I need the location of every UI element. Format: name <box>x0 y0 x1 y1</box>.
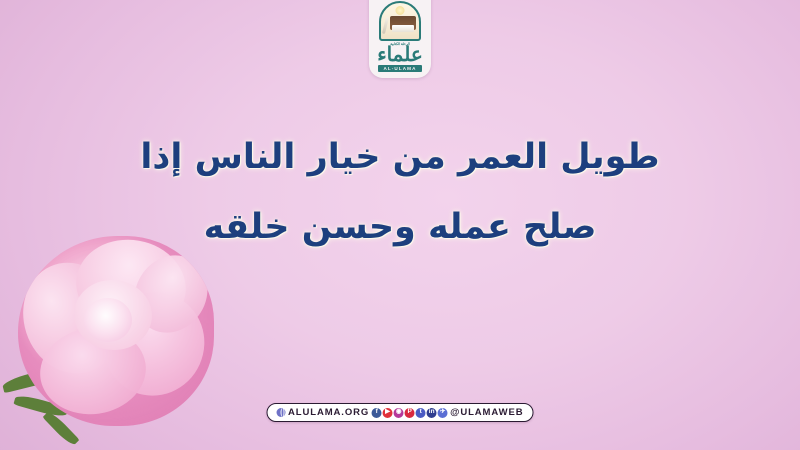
quote-line-2: صلح عمله وحسن خلقه <box>0 192 800 262</box>
flower-sepal <box>42 410 79 448</box>
globe-icon <box>277 408 286 417</box>
twitter-icon[interactable]: t <box>416 408 426 418</box>
arch-icon <box>379 1 421 41</box>
pinterest-icon[interactable]: P <box>405 408 415 418</box>
social-handle-label[interactable]: @ULAMAWEB <box>450 407 523 418</box>
logo-arabic-wordmark: علماء <box>377 46 423 64</box>
facebook-icon[interactable]: f <box>372 408 382 418</box>
youtube-icon[interactable]: ▶ <box>383 408 393 418</box>
al-ulama-logo[interactable]: الرحلة الكتابية علماء AL-ULAMA <box>369 0 431 78</box>
flower-petal <box>18 250 135 386</box>
quote-text: طويل العمر من خيار الناس إذا صلح عمله وح… <box>0 122 800 262</box>
flower-petal <box>87 276 214 412</box>
book-icon <box>390 16 416 30</box>
flower-petal <box>35 321 152 421</box>
sun-icon <box>396 6 405 15</box>
poster-canvas: الرحلة الكتابية علماء AL-ULAMA طويل العم… <box>0 0 800 450</box>
flower-sepal <box>13 393 68 419</box>
instagram-icon[interactable]: ◉ <box>394 408 404 418</box>
social-icon-list: f▶◉Ptin✈ <box>372 408 448 418</box>
footer-contact-badge[interactable]: ALULAMA.ORG f▶◉Ptin✈ @ULAMAWEB <box>267 403 534 422</box>
flower-bloom <box>18 236 214 426</box>
pen-icon <box>382 17 389 34</box>
linkedin-icon[interactable]: in <box>427 408 437 418</box>
flower-center <box>84 298 132 342</box>
website-label[interactable]: ALULAMA.ORG <box>288 407 369 418</box>
telegram-icon[interactable]: ✈ <box>438 408 448 418</box>
flower-sepal <box>1 366 64 394</box>
quote-line-1: طويل العمر من خيار الناس إذا <box>0 122 800 192</box>
flower-petal <box>71 276 156 354</box>
logo-latin-wordmark: AL-ULAMA <box>378 65 421 72</box>
